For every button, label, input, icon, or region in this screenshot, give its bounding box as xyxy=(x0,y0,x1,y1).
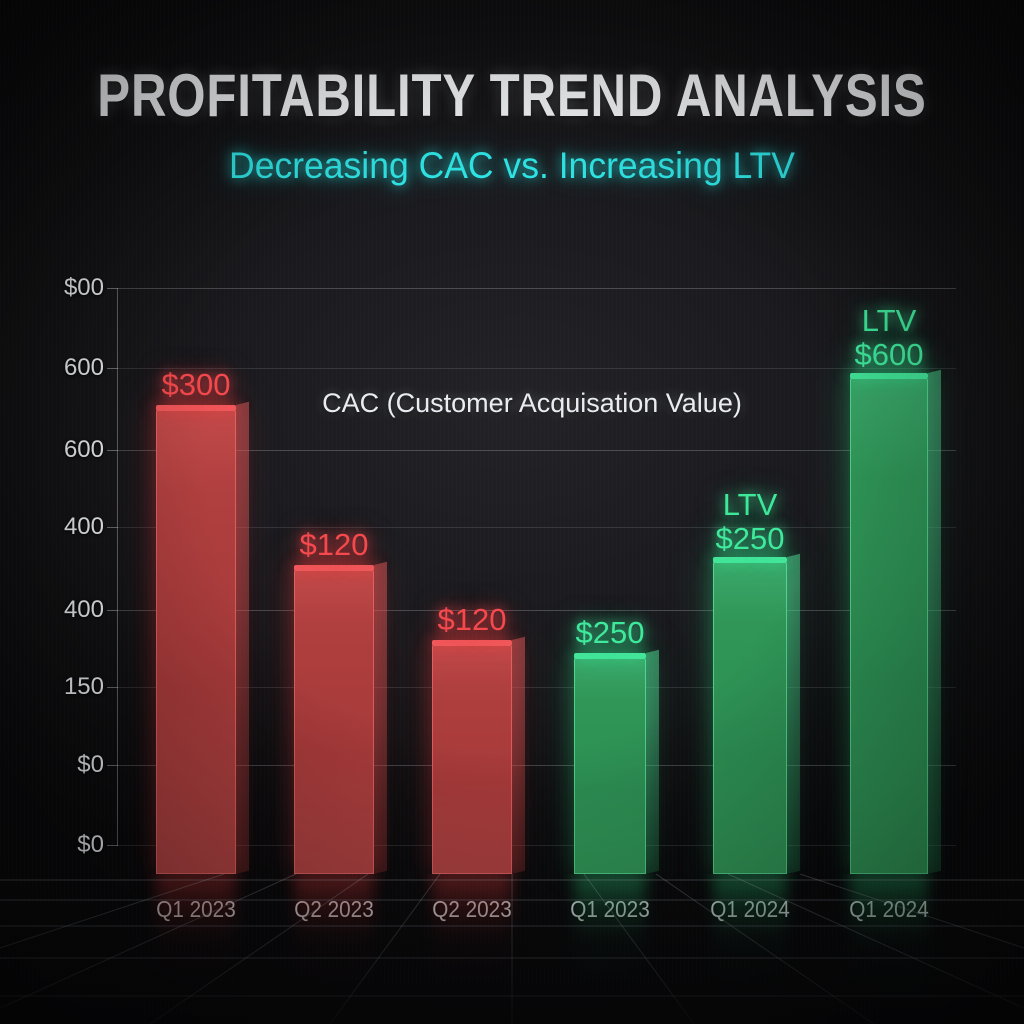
y-axis-tick xyxy=(107,527,118,528)
bar-side-face xyxy=(236,402,249,874)
y-axis-label: $0 xyxy=(18,831,104,859)
y-axis-label: $0 xyxy=(18,751,104,779)
floor-grid xyxy=(0,874,1024,1024)
floor-grid-lines xyxy=(0,874,1024,1024)
bar-ltv-4[interactable] xyxy=(574,658,646,874)
y-axis-label: 600 xyxy=(18,436,104,464)
bar-value-text: $120 xyxy=(438,602,507,637)
gridline xyxy=(118,288,956,289)
y-axis-tick xyxy=(107,765,118,766)
y-axis-tick xyxy=(107,610,118,611)
chart-subtitle: Decreasing CAC vs. Increasing LTV xyxy=(20,146,1003,186)
y-axis-label: 600 xyxy=(18,354,104,382)
y-axis-tick xyxy=(107,845,118,846)
bar-cac-1[interactable] xyxy=(156,410,236,874)
bar-ltv-5[interactable] xyxy=(713,562,787,874)
bar-top-face xyxy=(574,653,646,659)
chart-title: PROFITABILITY TREND ANALYSIS xyxy=(92,66,932,126)
y-axis-tick xyxy=(107,687,118,688)
series-annotation-cac: CAC (Customer Acquisation Value) xyxy=(312,388,752,419)
bar-series-label: LTV xyxy=(660,488,840,522)
bar-front-face xyxy=(432,645,512,874)
bar-top-face xyxy=(850,373,928,379)
bar-front-face xyxy=(574,658,646,874)
y-axis-label: 150 xyxy=(18,673,104,701)
bar-side-face xyxy=(646,650,659,874)
bar-front-face xyxy=(850,378,928,874)
bar-ltv-6[interactable] xyxy=(850,378,928,874)
chart-canvas: PROFITABILITY TREND ANALYSIS Decreasing … xyxy=(0,0,1024,1024)
bar-value-label: LTV$250 xyxy=(660,488,840,556)
bar-value-text: $300 xyxy=(162,367,231,402)
bar-cac-2[interactable] xyxy=(294,570,374,874)
bar-cac-3[interactable] xyxy=(432,645,512,874)
bar-top-face xyxy=(294,565,374,571)
bar-side-face xyxy=(928,370,941,874)
bar-value-label: $120 xyxy=(244,528,424,562)
bar-front-face xyxy=(713,562,787,874)
bar-value-text: $120 xyxy=(300,527,369,562)
bar-top-face xyxy=(713,557,787,563)
bar-value-text: $250 xyxy=(716,521,785,556)
bar-value-text: $250 xyxy=(576,615,645,650)
bar-value-label: LTV$600 xyxy=(799,304,979,372)
bar-top-face xyxy=(432,640,512,646)
bar-side-face xyxy=(512,637,525,874)
y-axis-label: 400 xyxy=(18,513,104,541)
bar-value-label: $250 xyxy=(520,616,700,650)
bar-side-face xyxy=(787,554,800,874)
bar-top-face xyxy=(156,405,236,411)
bar-value-text: $600 xyxy=(855,337,924,372)
y-axis-label: 400 xyxy=(18,596,104,624)
bar-value-label: $300 xyxy=(106,368,286,402)
y-axis-tick xyxy=(107,450,118,451)
bar-series-label: LTV xyxy=(799,304,979,338)
bar-front-face xyxy=(156,410,236,874)
y-axis-tick xyxy=(107,288,118,289)
bar-front-face xyxy=(294,570,374,874)
y-axis-label: $00 xyxy=(18,274,104,302)
